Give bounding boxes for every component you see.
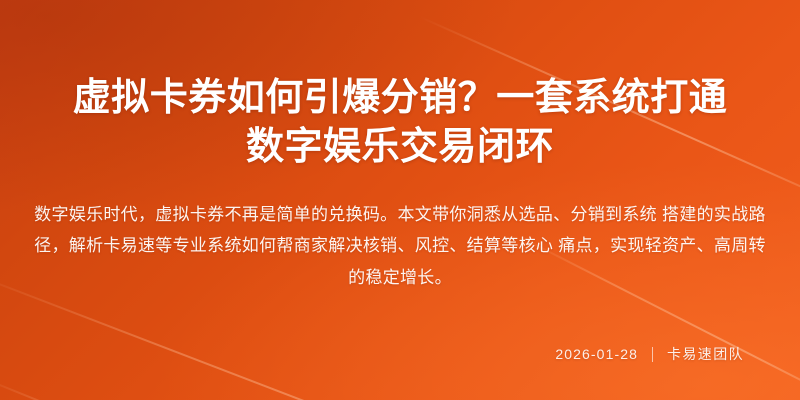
headline-line-1: 虚拟卡券如何引爆分销？一套系统打通 — [34, 74, 766, 123]
banner-content: 虚拟卡券如何引爆分销？一套系统打通 数字娱乐交易闭环 数字娱乐时代，虚拟卡券不再… — [0, 0, 800, 400]
author-name: 卡易速团队 — [667, 344, 744, 364]
article-cover-banner: 虚拟卡券如何引爆分销？一套系统打通 数字娱乐交易闭环 数字娱乐时代，虚拟卡券不再… — [0, 0, 800, 400]
headline: 虚拟卡券如何引爆分销？一套系统打通 数字娱乐交易闭环 — [34, 0, 766, 173]
meta-footer: 2026-01-28 卡易速团队 — [34, 344, 766, 400]
summary-paragraph: 数字娱乐时代，虚拟卡券不再是简单的兑换码。本文带你洞悉从选品、分销到系统 搭建的… — [34, 173, 766, 293]
summary-line-1: 数字娱乐时代，虚拟卡券不再是简单的兑换码。本文带你洞悉从选品、分销到系统 — [34, 205, 657, 224]
publish-date: 2026-01-28 — [555, 346, 638, 362]
layout-spacer — [34, 293, 766, 344]
headline-line-2: 数字娱乐交易闭环 — [34, 123, 766, 172]
meta-separator-icon — [652, 347, 653, 362]
